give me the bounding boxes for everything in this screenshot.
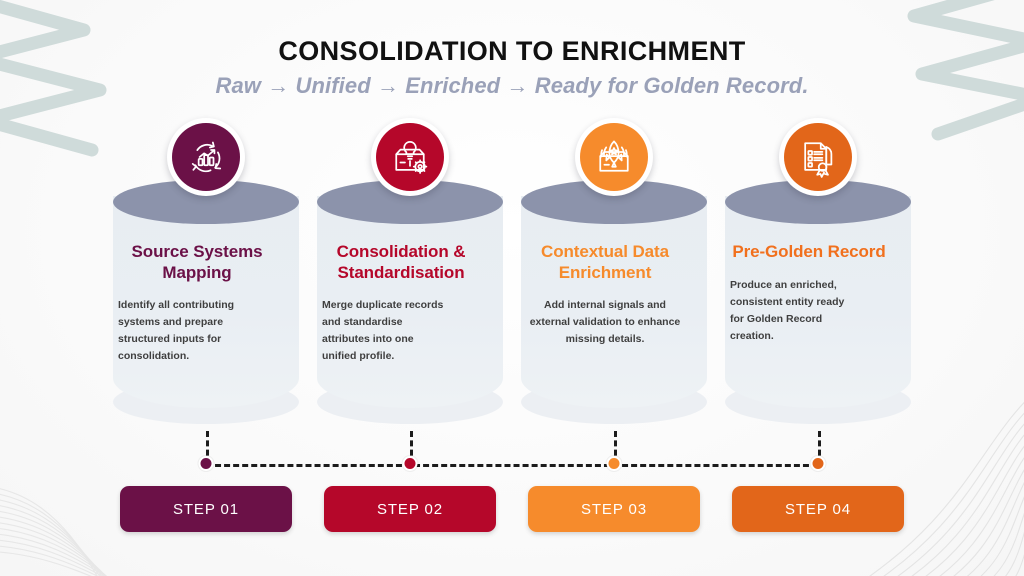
desc-line: unified profile. [322, 348, 480, 365]
card-title-1: Source Systems Mapping [118, 242, 276, 283]
card-desc-4: Produce an enriched, consistent entity r… [730, 277, 888, 345]
timeline-dashed-line [206, 464, 818, 467]
timeline-connector [0, 463, 1024, 467]
desc-line: structured inputs for [118, 331, 276, 348]
step-icon-badge-1[interactable] [167, 118, 245, 196]
card-desc-2: Merge duplicate records and standardise … [322, 297, 480, 365]
step-pill-1[interactable]: STEP 01 [120, 486, 292, 532]
step-pill-3[interactable]: STEP 03 [528, 486, 700, 532]
desc-line: Produce an enriched, [730, 277, 888, 294]
desc-line: consolidation. [118, 348, 276, 365]
step-icon-badge-4[interactable] [779, 118, 857, 196]
card-text-2: Consolidation & Standardisation Merge du… [322, 242, 480, 365]
card-title-3: Contextual Data Enrichment [526, 242, 684, 283]
desc-line: creation. [730, 328, 888, 345]
timeline-dot-1[interactable] [199, 456, 214, 471]
desc-line: systems and prepare [118, 314, 276, 331]
step-pill-4[interactable]: STEP 04 [732, 486, 904, 532]
step-icon-badge-3[interactable] [575, 118, 653, 196]
desc-line: for Golden Record [730, 311, 888, 328]
desc-line: and standardise [322, 314, 480, 331]
step-pill-2[interactable]: STEP 02 [324, 486, 496, 532]
card-text-4: Pre-Golden Record Produce an enriched, c… [730, 242, 888, 345]
certificate-document-icon [784, 123, 852, 191]
rocket-launch-box-icon [580, 123, 648, 191]
timeline-dot-4[interactable] [811, 456, 826, 471]
step-icon-badge-2[interactable] [371, 118, 449, 196]
desc-line: Add internal signals and [544, 299, 666, 311]
desc-line: Identify all contributing [118, 297, 276, 314]
card-desc-1: Identify all contributing systems and pr… [118, 297, 276, 365]
recycle-chart-icon [172, 123, 240, 191]
card-title-2: Consolidation & Standardisation [322, 242, 480, 283]
infographic-slide: CONSOLIDATION TO ENRICHMENT Raw → Unifie… [0, 0, 1024, 576]
card-text-3: Contextual Data Enrichment Add internal … [526, 242, 684, 348]
card-desc-3: Add internal signals and external valida… [526, 297, 684, 348]
card-text-1: Source Systems Mapping Identify all cont… [118, 242, 276, 365]
desc-line: external validation to [530, 316, 635, 328]
desc-line: attributes into one [322, 331, 480, 348]
timeline-dot-2[interactable] [403, 456, 418, 471]
timeline-dot-3[interactable] [607, 456, 622, 471]
desc-line: Merge duplicate records [322, 297, 480, 314]
desc-line: consistent entity ready [730, 294, 888, 311]
card-title-4: Pre-Golden Record [730, 242, 888, 263]
box-lightbulb-gear-icon [376, 123, 444, 191]
